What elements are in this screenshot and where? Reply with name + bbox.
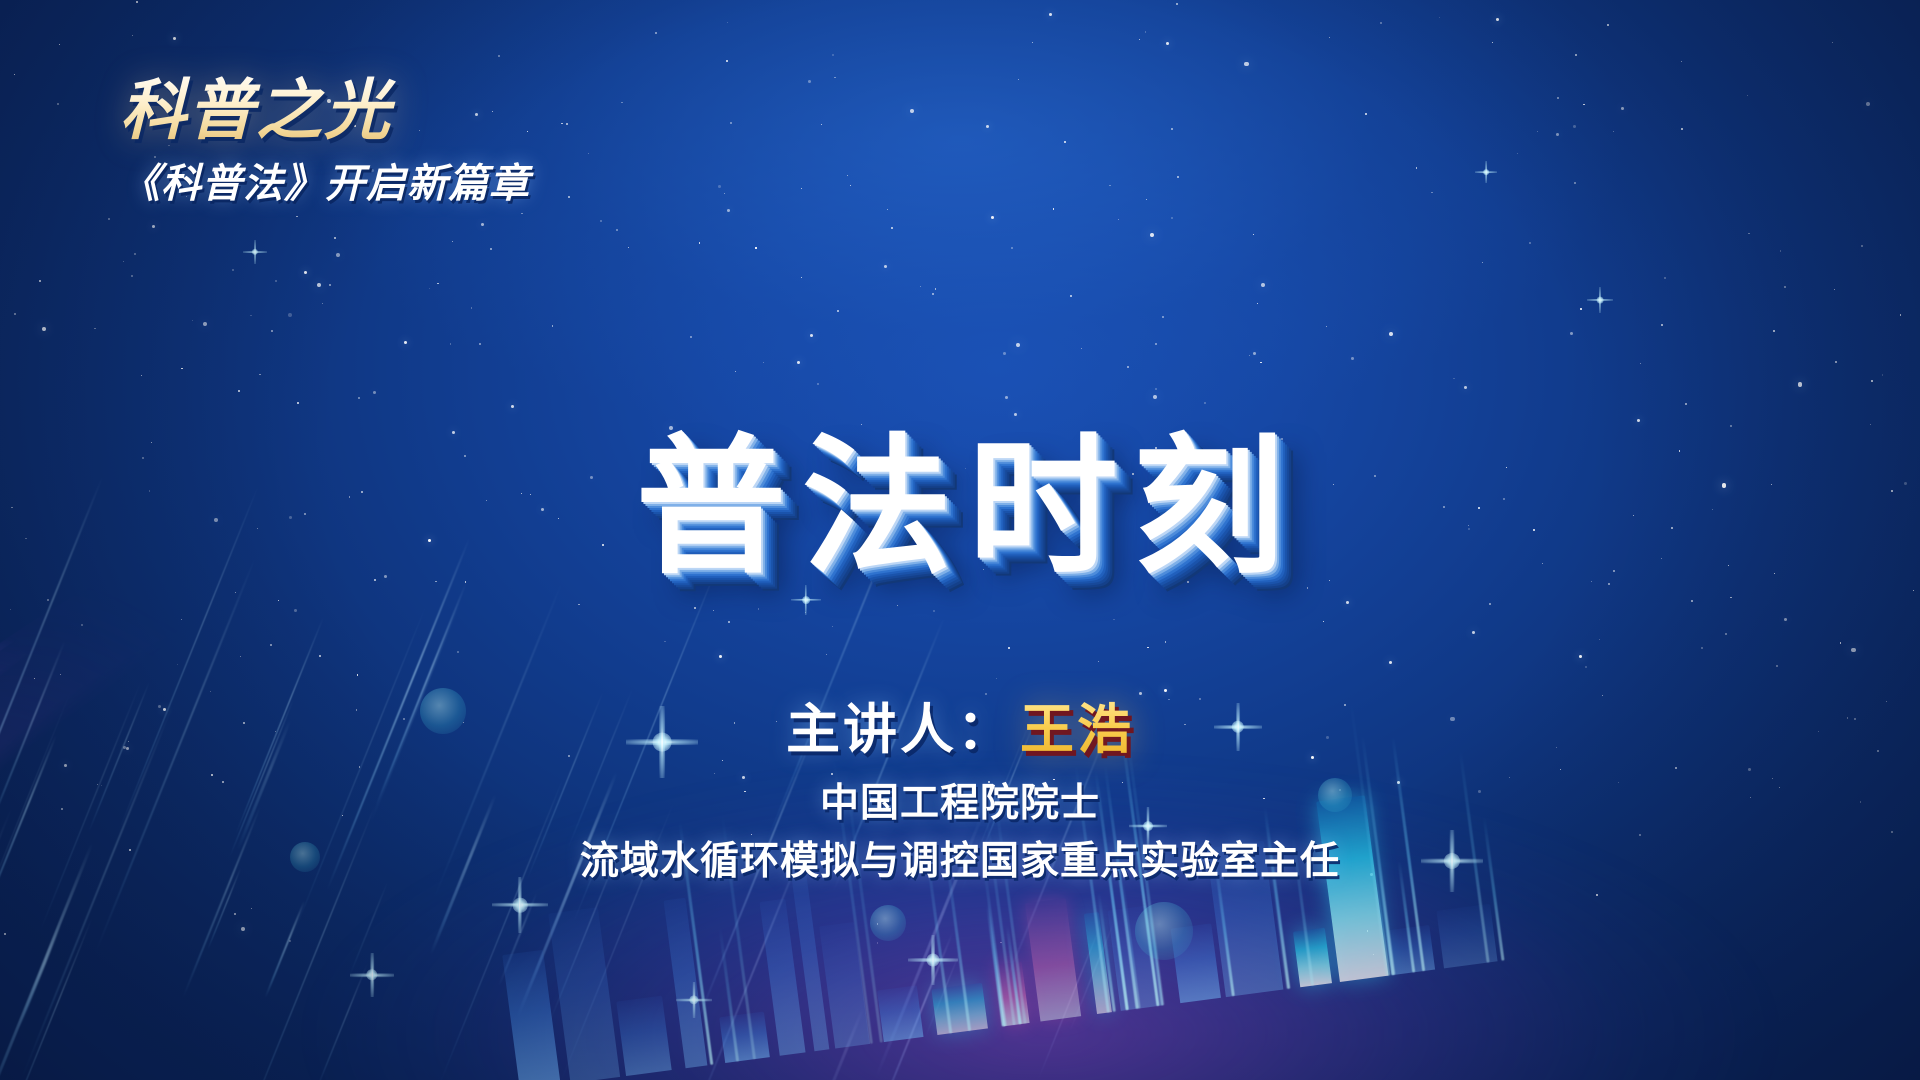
speaker-label: 主讲人： xyxy=(786,700,1014,760)
brand-title: 科普之光 xyxy=(120,76,530,145)
brand-lockup: 科普之光 《科普法》开启新篇章 xyxy=(120,76,530,209)
speaker-credential-1: 中国工程院院士 xyxy=(0,776,1920,831)
speaker-line: 主讲人：王浩 xyxy=(0,700,1920,760)
main-title: 普法时刻 xyxy=(0,432,1920,582)
brand-subtitle: 《科普法》开启新篇章 xyxy=(120,151,530,209)
speaker-name: 王浩 xyxy=(1020,700,1134,760)
title-card-stage: 科普之光 《科普法》开启新篇章 普法时刻 主讲人：王浩 中国工程院院士 流域水循… xyxy=(0,0,1920,1080)
speaker-block: 主讲人：王浩 中国工程院院士 流域水循环模拟与调控国家重点实验室主任 xyxy=(0,700,1920,889)
speaker-credential-2: 流域水循环模拟与调控国家重点实验室主任 xyxy=(0,834,1920,889)
